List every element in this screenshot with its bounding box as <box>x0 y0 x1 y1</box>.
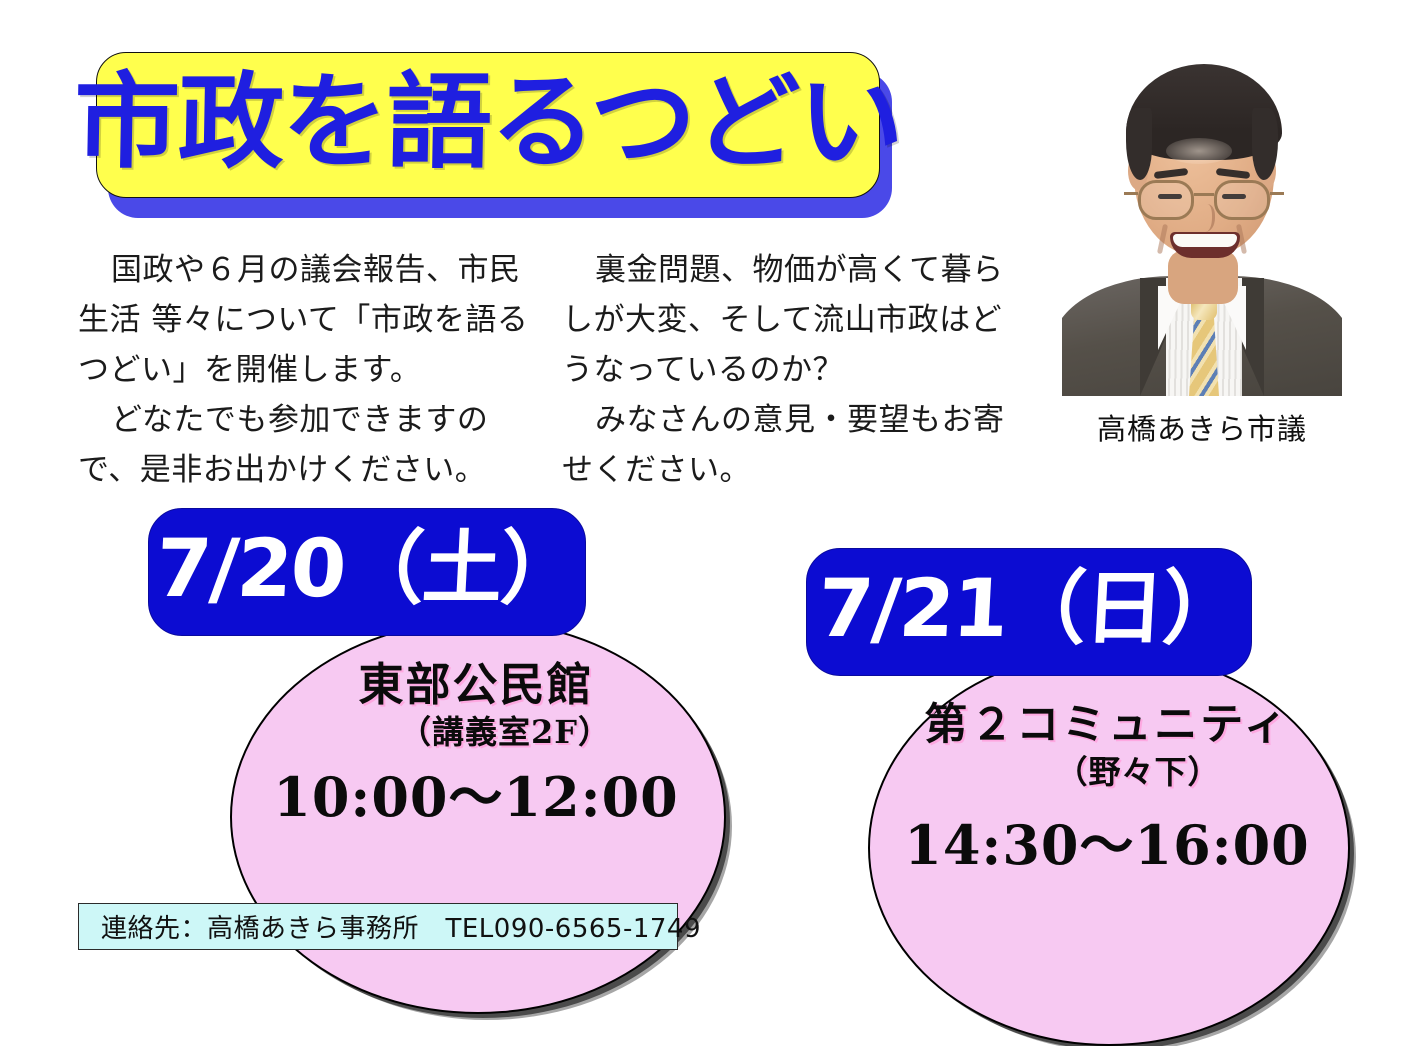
glasses-temple-left <box>1124 192 1138 195</box>
event-details: 第２コミュニティ （野々下） 14:30〜16:00 <box>876 700 1338 878</box>
intro-paragraph: どなたでも参加できますので、是非お出かけください。 <box>78 395 548 495</box>
glasses-temple-right <box>1270 192 1284 195</box>
portrait-caption: 高橋あきら市議 <box>1062 406 1342 448</box>
event-venue-name: 東部公民館 <box>240 658 712 711</box>
event-date-label: 7/20（土） <box>154 529 581 615</box>
contact-box: 連絡先：高橋あきら事務所 TEL090-6565-1749 <box>78 903 678 950</box>
event-time: 14:30〜16:00 <box>876 813 1338 878</box>
forehead-highlight <box>1166 138 1232 164</box>
nose <box>1196 204 1215 232</box>
intro-paragraph: 国政や６月の議会報告、市民生活 等々について「市政を語るつどい」を開催します。 <box>78 245 548 395</box>
event-venue-name: 第２コミュニティ <box>876 700 1338 751</box>
title-banner-plate: 市政を語るつどい <box>96 52 880 198</box>
intro-paragraph: みなさんの意見・要望もお寄せください。 <box>562 395 1032 495</box>
intro-paragraph: 裏金問題、物価が高くて暮らしが大変、そして流山市政はどうなっているのか？ <box>562 245 1032 395</box>
title-banner: 市政を語るつどい <box>96 52 880 198</box>
glasses-bridge <box>1194 193 1214 196</box>
mouth <box>1170 232 1240 258</box>
event-venue-detail: （講義室2F） <box>240 713 712 751</box>
event-venue-detail: （野々下） <box>876 753 1338 791</box>
lens-left <box>1138 180 1194 220</box>
event-time: 10:00〜12:00 <box>240 765 712 830</box>
event-details: 東部公民館 （講義室2F） 10:00〜12:00 <box>240 658 712 830</box>
portrait-block: 高橋あきら市議 <box>1062 34 1342 464</box>
lens-right <box>1214 180 1270 220</box>
intro-text-left-column: 国政や６月の議会報告、市民生活 等々について「市政を語るつどい」を開催します。 … <box>78 245 548 495</box>
intro-text-right-column: 裏金問題、物価が高くて暮らしが大変、そして流山市政はどうなっているのか？ みなさ… <box>562 245 1032 495</box>
hair-side-left <box>1126 108 1152 180</box>
contact-text: 連絡先：高橋あきら事務所 TEL090-6565-1749 <box>101 908 701 945</box>
event-date-label: 7/21（日） <box>816 569 1243 655</box>
event-date-badge: 7/20（土） <box>148 508 586 636</box>
event-date-badge: 7/21（日） <box>806 548 1252 676</box>
politician-photo <box>1062 34 1342 396</box>
teeth <box>1173 234 1237 247</box>
page-title: 市政を語るつどい <box>73 70 903 180</box>
neck <box>1168 250 1238 304</box>
